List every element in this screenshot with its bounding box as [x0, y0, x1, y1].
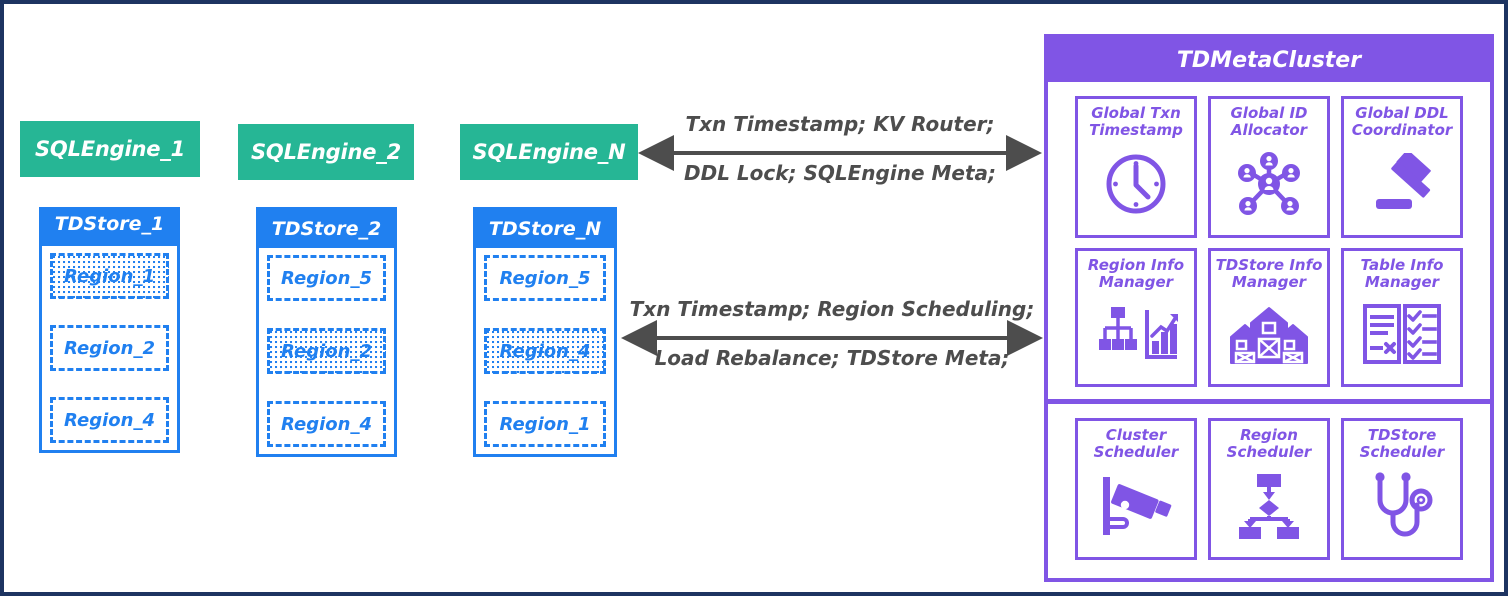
sqlengine-label: SQLEngine_N: [473, 140, 626, 164]
tdmetacluster-panel: TDMetaCluster Global Txn Timestamp: [1044, 34, 1494, 582]
region-item[interactable]: Region_1: [484, 401, 606, 447]
card-label: TDStore Scheduler: [1360, 427, 1445, 461]
documents-checklist-icon: [1347, 291, 1457, 378]
tdstore-title-text: TDStore_1: [47, 214, 173, 234]
card-global-txn-timestamp[interactable]: Global Txn Timestamp: [1075, 96, 1197, 238]
sqlengine-label: SQLEngine_1: [35, 137, 185, 161]
region-label: Region_2: [281, 341, 372, 362]
region-label: Region_4: [500, 341, 591, 362]
tdstore-box-2[interactable]: TDStore_2 Region_5 Region_2 Region_4: [256, 207, 397, 457]
card-global-id-allocator[interactable]: Global ID Allocator: [1208, 96, 1330, 238]
tdstore-regions: Region_5 Region_2 Region_4: [259, 248, 394, 454]
tdstore-title-text: TDStore_N: [489, 220, 601, 239]
region-item[interactable]: Region_5: [267, 255, 386, 301]
region-item[interactable]: Region_5: [484, 255, 606, 301]
card-global-ddl-coordinator[interactable]: Global DDL Coordinator: [1341, 96, 1463, 238]
region-item[interactable]: Region_2: [50, 325, 169, 371]
card-label: Global ID Allocator: [1230, 105, 1307, 139]
arrow-bottom-label: DDL Lock; SQLEngine Meta;: [634, 161, 1046, 185]
tdstore-title-text: TDStore_2: [272, 220, 382, 239]
sqlengine-box-2[interactable]: SQLEngine_2: [238, 124, 414, 180]
hierarchy-chart-icon: [1081, 291, 1191, 378]
card-tdstore-scheduler[interactable]: TDStore Scheduler: [1341, 418, 1463, 560]
region-item[interactable]: Region_4: [50, 397, 169, 443]
region-label: Region_4: [281, 414, 372, 435]
clock-icon: [1081, 139, 1191, 229]
sqlengine-label: SQLEngine_2: [251, 140, 401, 164]
card-tdstore-info-manager[interactable]: TDStore Info Manager: [1208, 248, 1330, 387]
region-item[interactable]: Region_4: [267, 401, 386, 447]
tdmetacluster-title-text: TDMetaCluster: [1177, 48, 1361, 73]
metacluster-row: Global Txn Timestamp Global ID Al: [1058, 96, 1480, 238]
metacluster-upper-section: Global Txn Timestamp Global ID Al: [1048, 82, 1490, 404]
region-label: Region_1: [500, 414, 591, 435]
card-region-info-manager[interactable]: Region Info Manager: [1075, 248, 1197, 387]
card-label: Table Info Manager: [1361, 257, 1444, 291]
security-camera-icon: [1081, 461, 1191, 551]
stethoscope-icon: [1347, 461, 1457, 551]
sqlengine-box-1[interactable]: SQLEngine_1: [20, 121, 200, 177]
metacluster-lower-section: Cluster Scheduler: [1048, 404, 1490, 572]
region-label: Region_1: [64, 266, 155, 287]
region-item[interactable]: Region_2: [267, 328, 386, 374]
card-label: Region Scheduler: [1227, 427, 1312, 461]
barns-icon: [1214, 291, 1324, 378]
card-label: TDStore Info Manager: [1216, 257, 1323, 291]
tdstore-title: TDStore_1: [42, 210, 177, 246]
diagram-canvas: SQLEngine_1 SQLEngine_2 SQLEngine_N TDSt…: [0, 0, 1508, 596]
metacluster-row: Region Info Manager: [1058, 248, 1480, 387]
tdstore-metacluster-arrow: Txn Timestamp; Region Scheduling; Load R…: [617, 297, 1047, 379]
region-label: Region_5: [500, 268, 591, 289]
tdstore-title: TDStore_N: [476, 210, 614, 248]
card-region-scheduler[interactable]: Region Scheduler: [1208, 418, 1330, 560]
card-cluster-scheduler[interactable]: Cluster Scheduler: [1075, 418, 1197, 560]
tdstore-title: TDStore_2: [259, 210, 394, 248]
tdstore-box-3[interactable]: TDStore_N Region_5 Region_4 Region_1: [473, 207, 617, 457]
card-table-info-manager[interactable]: Table Info Manager: [1341, 248, 1463, 387]
tdmetacluster-title: TDMetaCluster: [1048, 38, 1490, 82]
card-label: Cluster Scheduler: [1094, 427, 1179, 461]
tdstore-regions: Region_5 Region_4 Region_1: [476, 248, 614, 454]
region-label: Region_2: [64, 338, 155, 359]
region-item[interactable]: Region_4: [484, 328, 606, 374]
metacluster-row: Cluster Scheduler: [1058, 418, 1480, 560]
tdstore-box-1[interactable]: TDStore_1 Region_1 Region_2 Region_4: [39, 207, 180, 453]
tdstore-regions: Region_1 Region_2 Region_4: [42, 246, 177, 450]
sqlengine-box-3[interactable]: SQLEngine_N: [460, 124, 638, 180]
card-label: Global Txn Timestamp: [1089, 105, 1183, 139]
region-label: Region_5: [281, 268, 372, 289]
gavel-icon: [1347, 139, 1457, 229]
flowchart-icon: [1214, 461, 1324, 551]
arrow-bottom-label: Load Rebalance; TDStore Meta;: [617, 346, 1047, 370]
region-label: Region_4: [64, 410, 155, 431]
card-label: Region Info Manager: [1088, 257, 1184, 291]
network-hub-icon: [1214, 139, 1324, 229]
card-label: Global DDL Coordinator: [1352, 105, 1453, 139]
sqlengine-metacluster-arrow: Txn Timestamp; KV Router; DDL Lock; SQLE…: [634, 112, 1046, 194]
region-item[interactable]: Region_1: [50, 253, 169, 299]
